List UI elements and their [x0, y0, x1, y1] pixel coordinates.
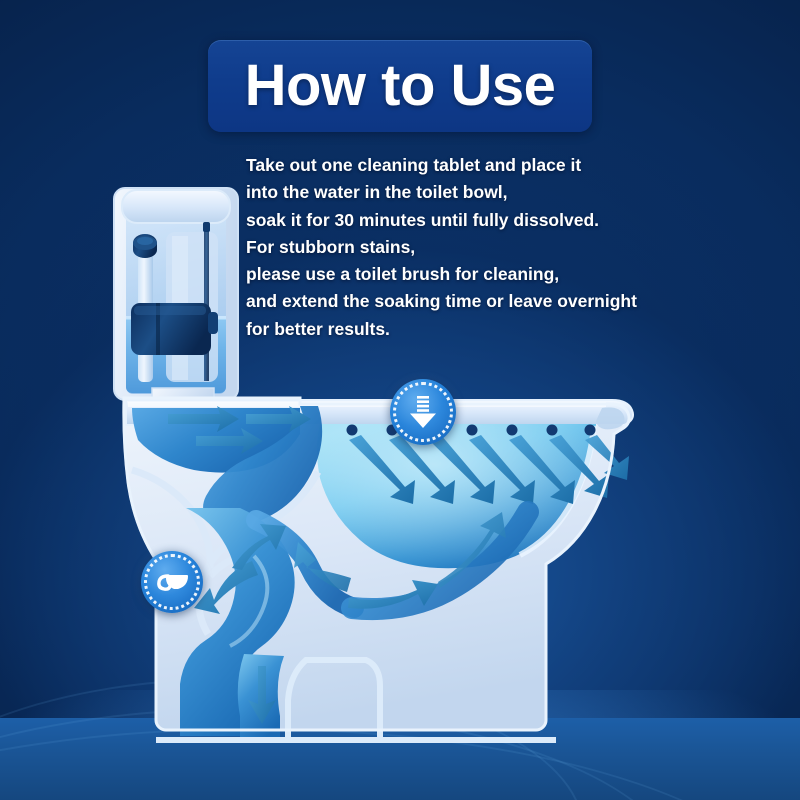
tank-lid: [122, 190, 230, 223]
tank: [114, 188, 238, 410]
badge-down: [390, 379, 456, 445]
valve-block: [131, 303, 218, 355]
badge-siphon: [141, 551, 203, 613]
toilet-siphon-icon: [155, 567, 189, 597]
flush-valve: [166, 222, 218, 382]
download-arrow-icon: [408, 394, 438, 430]
infographic-canvas: How to Use Take out one cleaning tablet …: [0, 0, 800, 800]
